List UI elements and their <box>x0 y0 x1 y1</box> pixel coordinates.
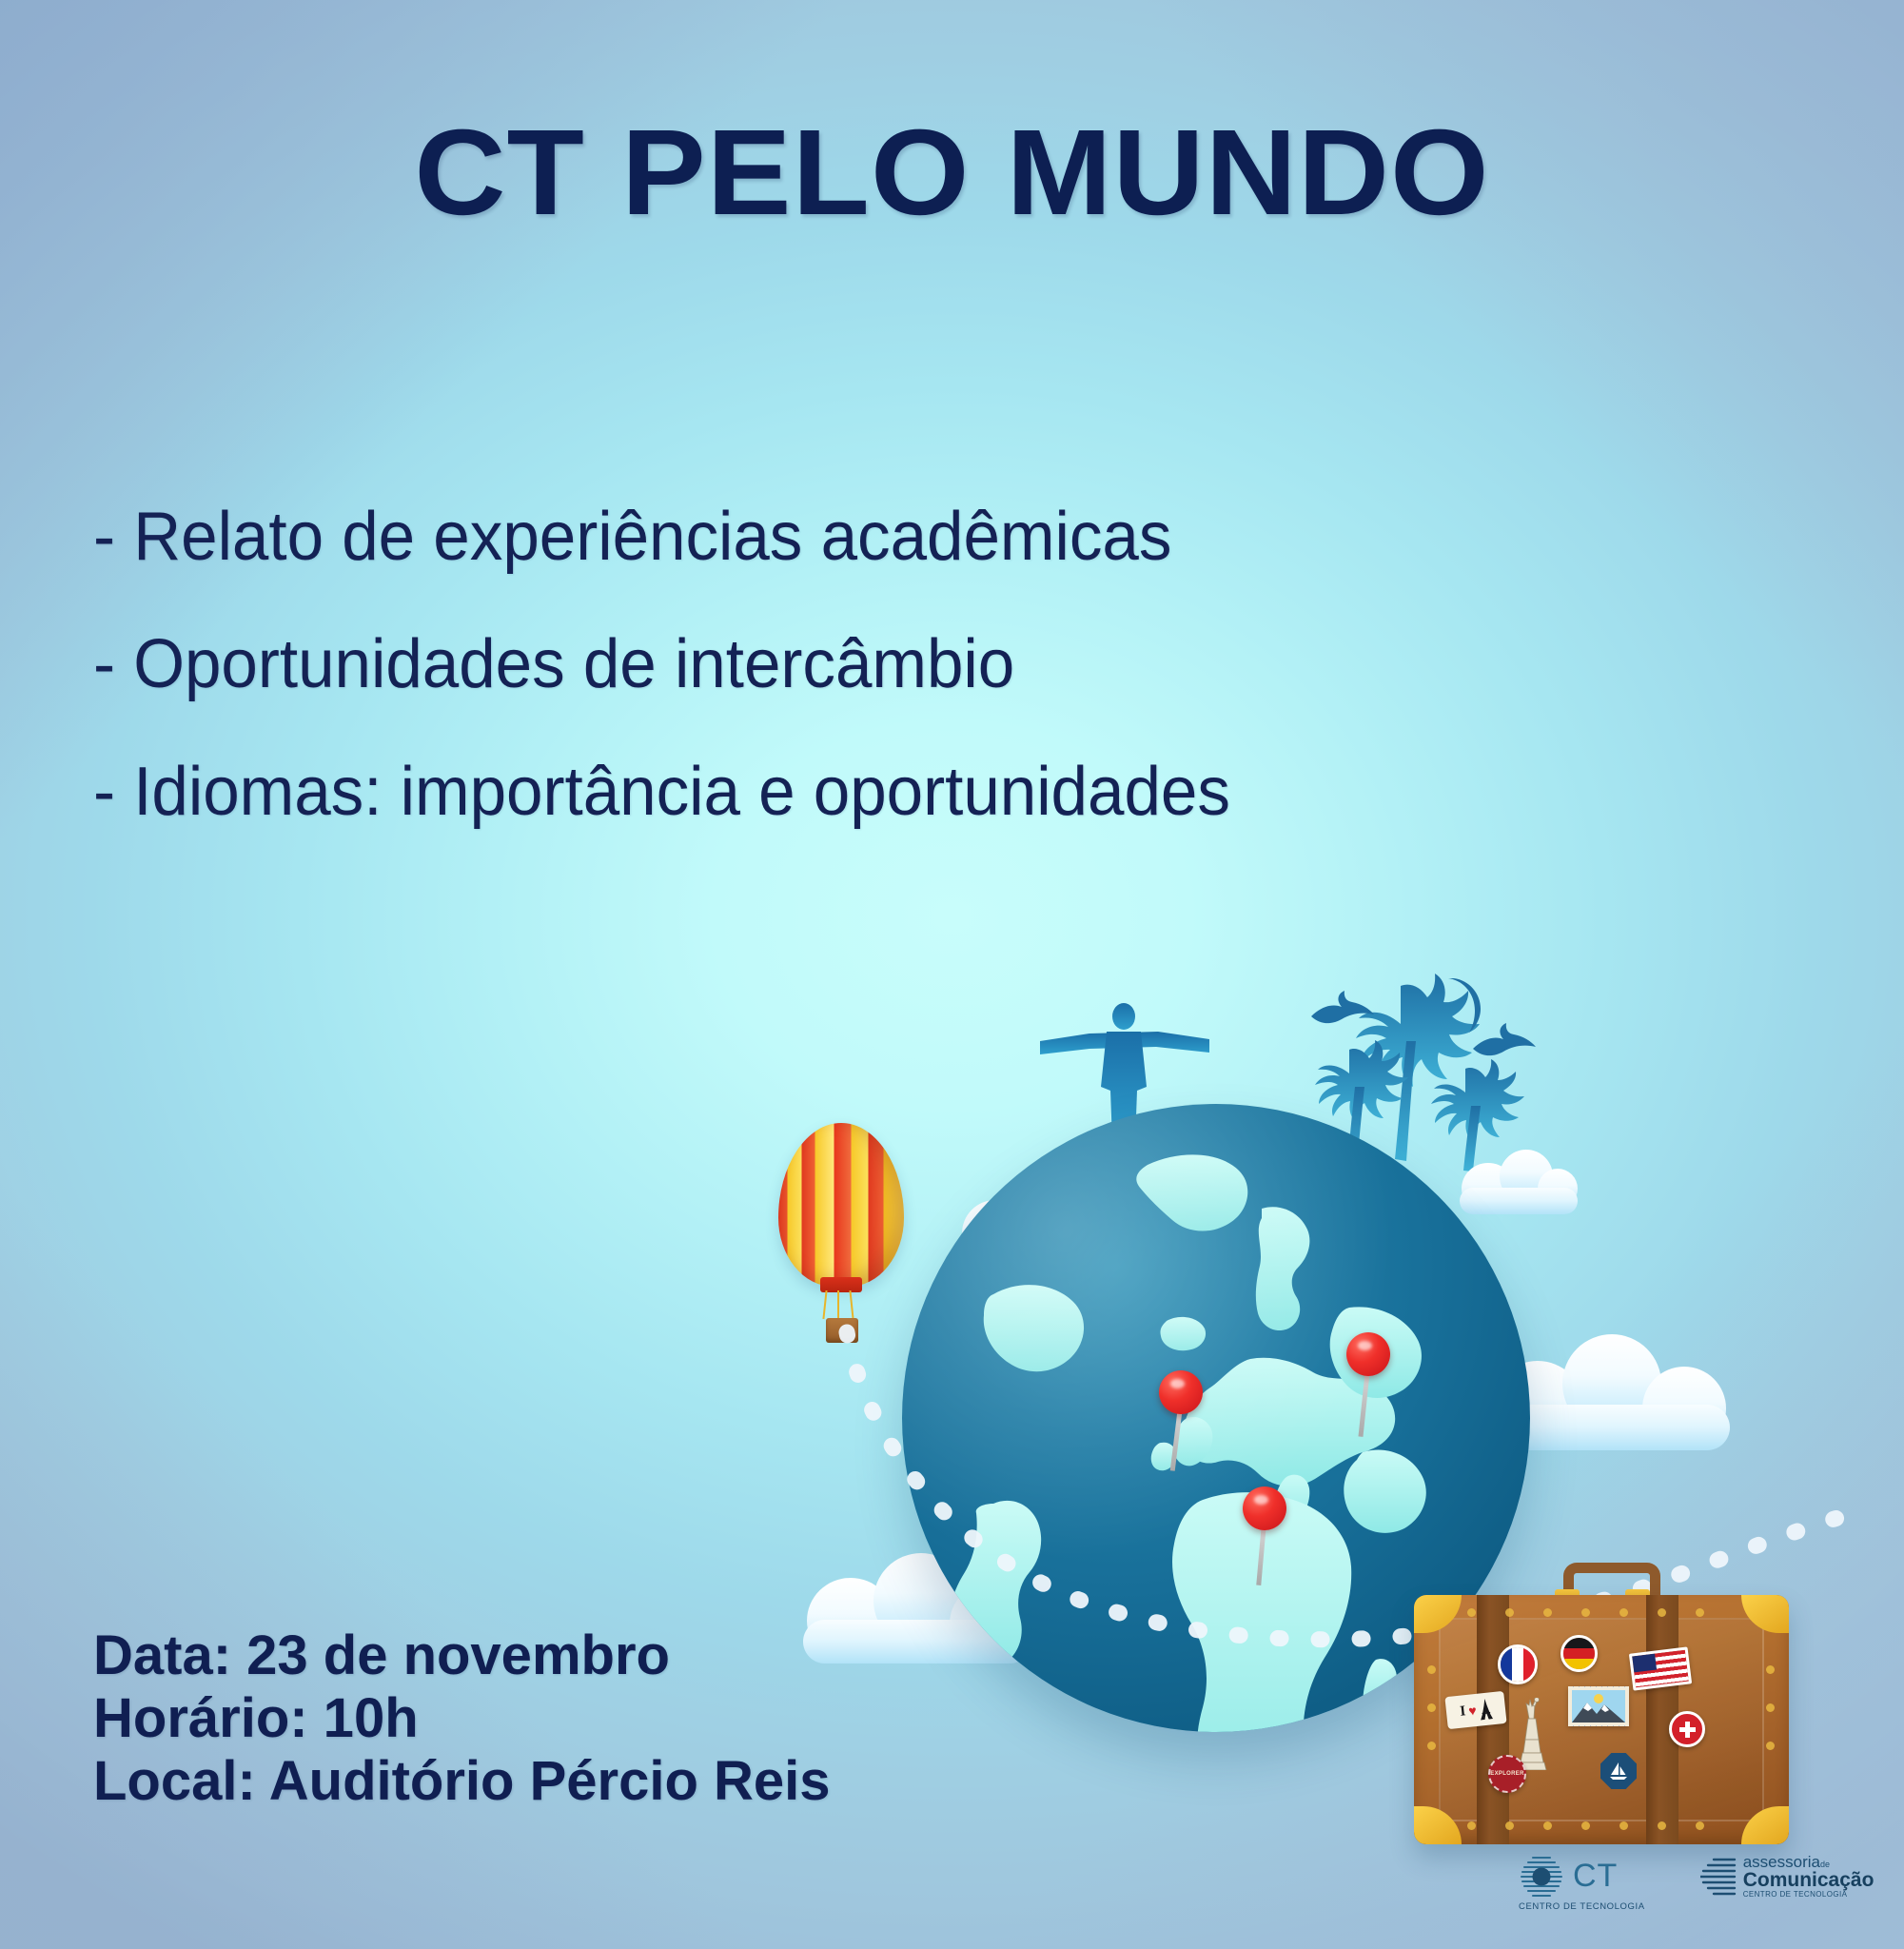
travel-suitcase: I ♥ <box>1414 1595 1789 1844</box>
topic-item: - Oportunidades de intercâmbio <box>93 630 1230 699</box>
event-time: Horário: 10h <box>93 1687 831 1750</box>
event-details: Data: 23 de novembro Horário: 10h Local:… <box>93 1624 831 1813</box>
logo-bar: CT CENTRO DE TECNOLOGIA <box>1519 1854 1874 1912</box>
logo-ct-wordmark: CT <box>1573 1861 1618 1891</box>
logo-ac-line2: Comunicação <box>1743 1870 1875 1890</box>
logo-ct: CT CENTRO DE TECNOLOGIA <box>1519 1854 1645 1912</box>
suitcase-body: I ♥ <box>1414 1595 1789 1844</box>
topic-item: - Relato de experiências acadêmicas <box>93 502 1230 571</box>
sticker-i-label: I <box>1460 1703 1467 1721</box>
sticker-i-love-paris: I ♥ <box>1444 1691 1506 1729</box>
eiffel-tower-icon <box>1478 1698 1492 1720</box>
balloon-basket <box>826 1318 858 1343</box>
page-title: CT PELO MUNDO <box>0 112 1904 234</box>
sticker-flag-france <box>1498 1644 1538 1684</box>
sticker-mountain-stamp <box>1568 1686 1629 1726</box>
event-date: Data: 23 de novembro <box>93 1624 831 1687</box>
explorer-stamp-label: EXPLORER <box>1490 1771 1523 1777</box>
sticker-flag-germany <box>1560 1635 1598 1672</box>
heart-icon: ♥ <box>1467 1703 1477 1719</box>
sticker-flag-usa <box>1629 1646 1692 1690</box>
balloon-envelope <box>778 1123 904 1287</box>
logo-assessoria-comunicacao: assessoriade Comunicação CENTRO DE TECNO… <box>1700 1854 1875 1899</box>
event-location: Local: Auditório Pércio Reis <box>93 1750 831 1813</box>
logo-ct-caption: CENTRO DE TECNOLOGIA <box>1519 1901 1645 1912</box>
topic-list: - Relato de experiências acadêmicas - Op… <box>93 502 1278 885</box>
logo-ac-line1-small: de <box>1820 1860 1830 1869</box>
striped-globe-mark <box>1519 1854 1566 1900</box>
topic-item: - Idiomas: importância e oportunidades <box>93 758 1230 826</box>
crescent-moon <box>1448 978 1481 1033</box>
sticker-explorer-stamp: EXPLORER <box>1488 1755 1526 1793</box>
sticker-statue-of-liberty <box>1517 1698 1551 1770</box>
hot-air-balloon <box>778 1123 904 1342</box>
logo-ac-caption: CENTRO DE TECNOLOGIA <box>1743 1890 1875 1899</box>
striped-speed-mark <box>1700 1856 1738 1898</box>
poster-canvas: I ♥ <box>0 0 1904 1949</box>
birds-silhouette <box>1294 971 1608 1142</box>
sticker-swiss-cross <box>1669 1711 1705 1747</box>
